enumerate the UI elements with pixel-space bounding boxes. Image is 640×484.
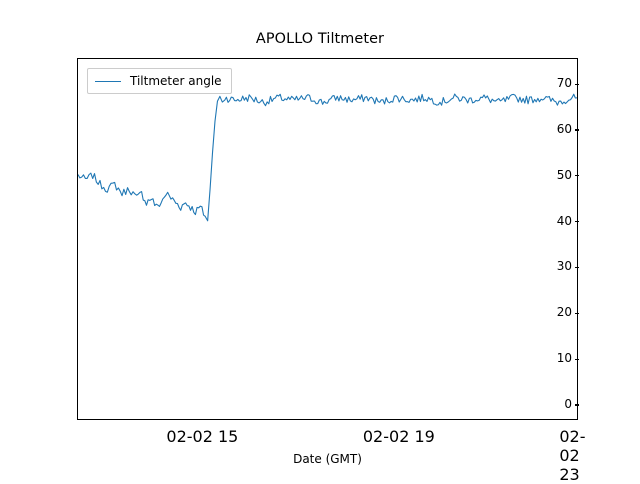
x-tick-label: 02-02 19	[363, 427, 435, 446]
figure-canvas: APOLLO Tiltmeter 010203040506070 02-02 1…	[0, 0, 640, 480]
plot-area: 010203040506070 02-02 1502-02 1902-02 23…	[77, 58, 578, 420]
page-title: APOLLO Tiltmeter	[0, 31, 640, 47]
x-axis-ticks: 02-02 1502-02 1902-02 2302-03 0302-03 07…	[78, 59, 579, 421]
legend: Tiltmeter angle	[87, 68, 232, 94]
legend-line-swatch-icon	[95, 81, 121, 82]
legend-entry-label: Tiltmeter angle	[130, 74, 222, 88]
x-tick-label: 02-02 15	[166, 427, 238, 446]
x-axis-title: Date (GMT)	[77, 452, 578, 466]
